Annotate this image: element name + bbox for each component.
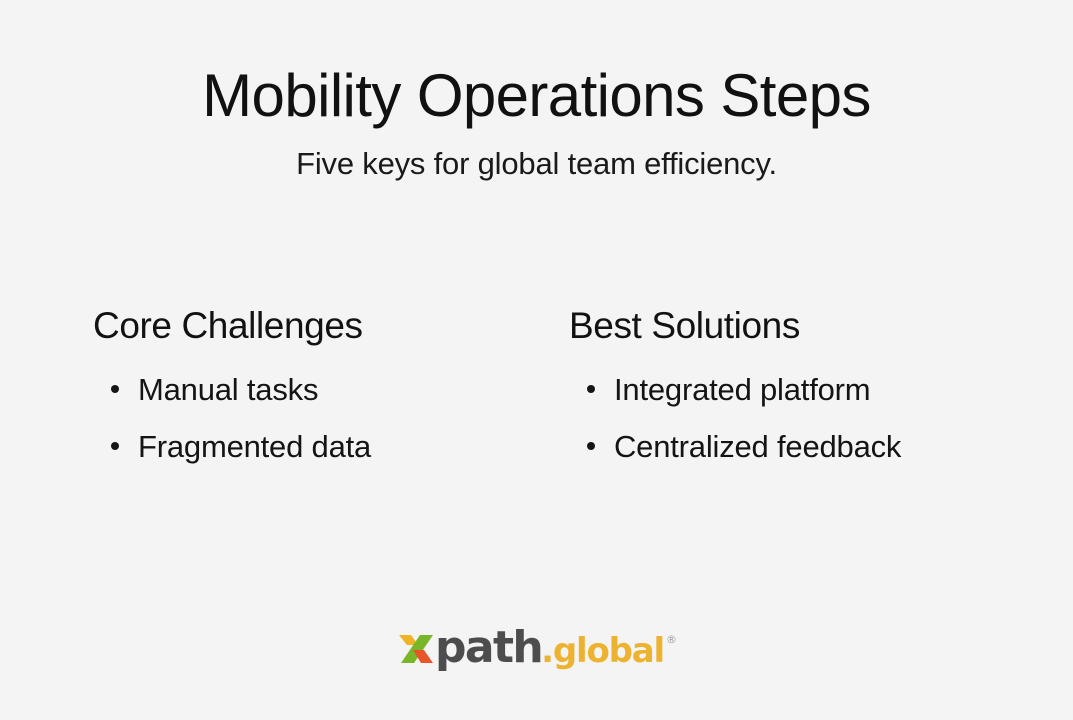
content-columns: Core Challenges Manual tasks Fragmented … [0,305,1073,505]
list-item: Manual tasks [111,374,371,405]
registered-trademark-icon: ® [666,634,677,645]
list-item: Centralized feedback [587,431,901,462]
xpath-global-logo: path .global ® [398,626,675,670]
list-item-label: Integrated platform [614,372,870,407]
bullet-list-core-challenges: Manual tasks Fragmented data [93,374,371,462]
slide-canvas: Mobility Operations Steps Five keys for … [0,0,1073,720]
slide-header: Mobility Operations Steps Five keys for … [0,62,1073,182]
footer-branding: path .global ® [0,626,1073,670]
column-core-challenges: Core Challenges Manual tasks Fragmented … [93,305,371,462]
logo-wordmark-path: path [435,626,542,670]
column-heading-core-challenges: Core Challenges [93,305,371,348]
bullet-list-best-solutions: Integrated platform Centralized feedback [569,374,901,462]
list-item-label: Fragmented data [138,429,371,464]
page-title: Mobility Operations Steps [0,62,1073,129]
bullet-dot-icon [111,385,119,393]
page-subtitle: Five keys for global team efficiency. [0,145,1073,182]
column-best-solutions: Best Solutions Integrated platform Centr… [569,305,901,462]
list-item: Fragmented data [111,431,371,462]
list-item-label: Centralized feedback [614,429,901,464]
bullet-dot-icon [587,442,595,450]
column-heading-best-solutions: Best Solutions [569,305,901,348]
list-item-label: Manual tasks [138,372,318,407]
bullet-dot-icon [587,385,595,393]
logo-wordmark-global: .global [541,634,664,668]
xpath-x-mark-icon [398,631,434,667]
bullet-dot-icon [111,442,119,450]
list-item: Integrated platform [587,374,901,405]
